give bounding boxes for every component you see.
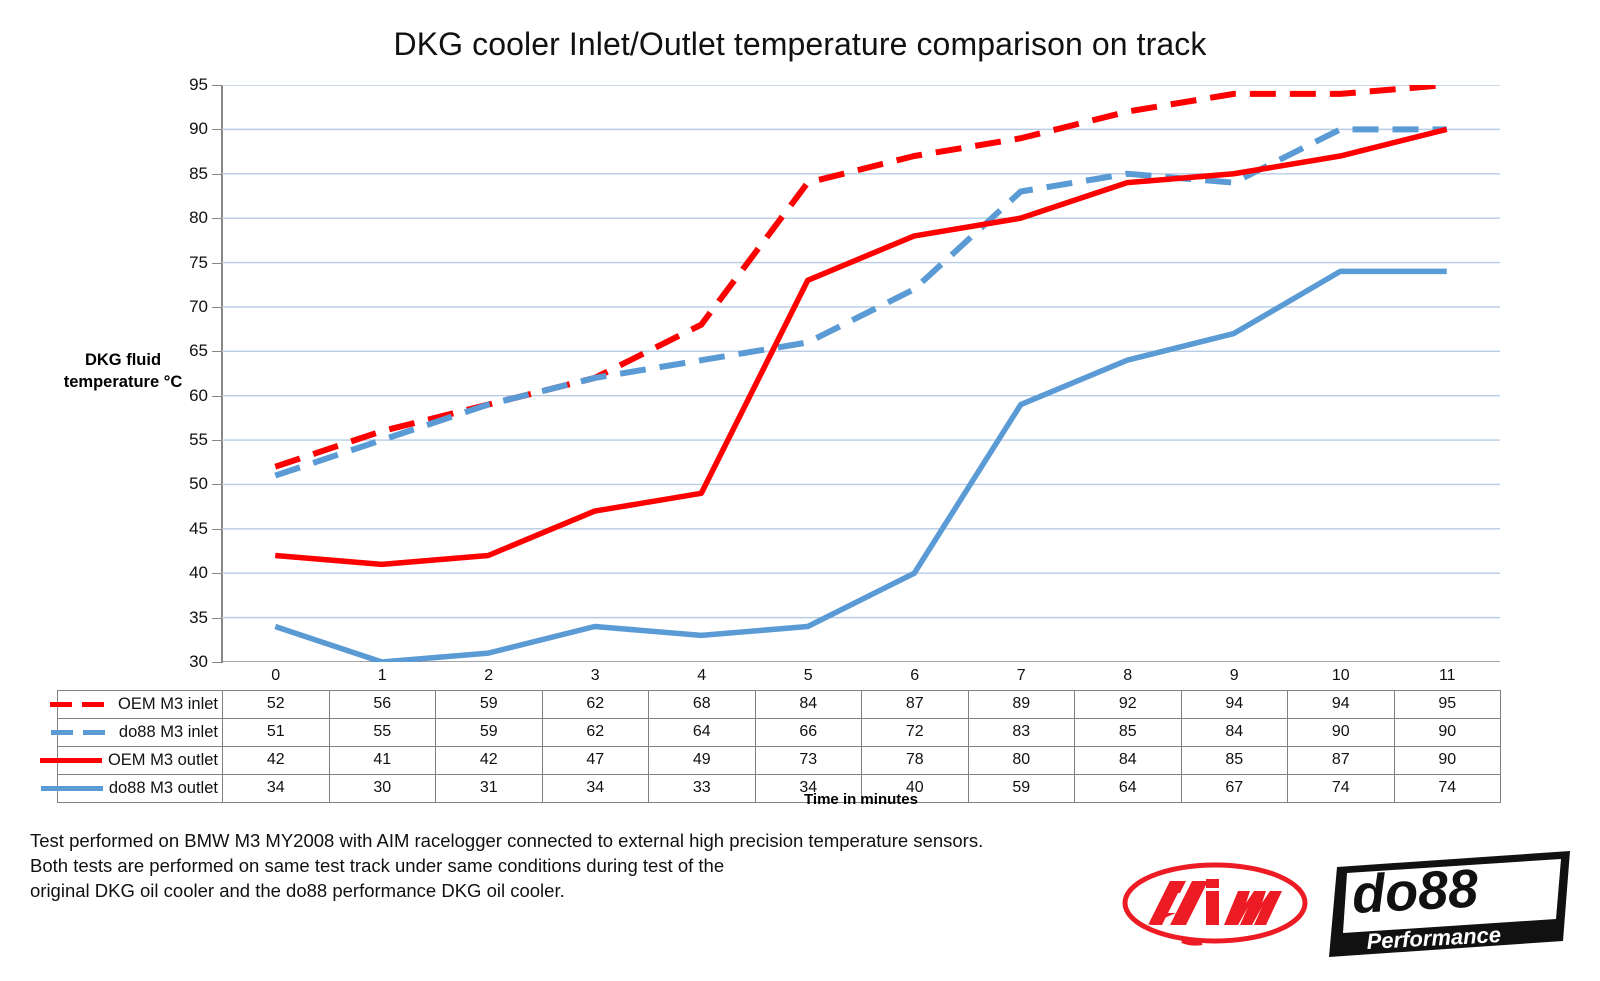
y-tick-label: 50 bbox=[150, 474, 208, 494]
y-tick-mark bbox=[212, 307, 222, 308]
table-cell-value: 84 bbox=[1181, 718, 1288, 746]
table-cell-value: 66 bbox=[755, 718, 862, 746]
legend-swatch-icon bbox=[41, 786, 103, 791]
table-cell-value: 42 bbox=[436, 746, 543, 774]
y-tick-mark bbox=[212, 174, 222, 175]
y-tick-mark bbox=[212, 218, 222, 219]
series-line-do88-m3-inlet bbox=[275, 129, 1447, 475]
y-tick-label: 55 bbox=[150, 430, 208, 450]
table-cell-value: 89 bbox=[968, 690, 1075, 718]
table-cell-value: 83 bbox=[968, 718, 1075, 746]
chart-title: DKG cooler Inlet/Outlet temperature comp… bbox=[0, 26, 1600, 63]
footer-line: original DKG oil cooler and the do88 per… bbox=[30, 878, 983, 903]
table-row: do88 M3 inlet515559626466728385849090 bbox=[58, 718, 1501, 746]
footer-line: Test performed on BMW M3 MY2008 with AIM… bbox=[30, 828, 983, 853]
footer-note: Test performed on BMW M3 MY2008 with AIM… bbox=[30, 828, 983, 903]
table-corner-cell bbox=[58, 662, 223, 690]
table-cell-value: 94 bbox=[1181, 690, 1288, 718]
table-cell-value: 85 bbox=[1075, 718, 1182, 746]
y-tick-mark bbox=[212, 484, 222, 485]
y-tick-label: 65 bbox=[150, 341, 208, 361]
table-cell-value: 52 bbox=[223, 690, 330, 718]
logo-group: do88 Performance bbox=[1120, 845, 1580, 965]
y-tick-label: 95 bbox=[150, 75, 208, 95]
table-cell-value: 90 bbox=[1394, 718, 1501, 746]
legend-swatch-icon bbox=[50, 702, 112, 707]
table-cell-value: 87 bbox=[862, 690, 969, 718]
table-cell-value: 64 bbox=[649, 718, 756, 746]
table-cell-value: 59 bbox=[436, 690, 543, 718]
line-chart-svg bbox=[222, 85, 1500, 662]
category-label: 0 bbox=[223, 662, 330, 690]
category-label: 5 bbox=[755, 662, 862, 690]
x-axis-title: Time in minutes bbox=[222, 791, 1500, 808]
category-label: 6 bbox=[862, 662, 969, 690]
table-cell-value: 90 bbox=[1394, 746, 1501, 774]
legend-entry[interactable]: do88 M3 outlet bbox=[58, 774, 223, 802]
category-label: 4 bbox=[649, 662, 756, 690]
y-tick-label: 80 bbox=[150, 208, 208, 228]
y-tick-mark bbox=[212, 396, 222, 397]
table-cell-value: 62 bbox=[542, 718, 649, 746]
legend-label: do88 M3 outlet bbox=[109, 779, 218, 798]
category-label: 11 bbox=[1394, 662, 1501, 690]
y-tick-label: 45 bbox=[150, 519, 208, 539]
series-line-do88-m3-outlet bbox=[275, 271, 1447, 662]
do88-main-text: do88 bbox=[1350, 858, 1479, 925]
table-cell-value: 56 bbox=[329, 690, 436, 718]
category-label: 10 bbox=[1288, 662, 1395, 690]
data-table: 01234567891011OEM M3 inlet52565962688487… bbox=[57, 662, 1501, 803]
table-cell-value: 95 bbox=[1394, 690, 1501, 718]
y-tick-label: 60 bbox=[150, 386, 208, 406]
y-tick-mark bbox=[212, 85, 222, 86]
y-tick-mark bbox=[212, 351, 222, 352]
table-cell-value: 41 bbox=[329, 746, 436, 774]
category-label: 3 bbox=[542, 662, 649, 690]
table-cell-value: 84 bbox=[755, 690, 862, 718]
series-line-oem-m3-outlet bbox=[275, 129, 1447, 564]
table-row: OEM M3 inlet525659626884878992949495 bbox=[58, 690, 1501, 718]
table-cell-value: 85 bbox=[1181, 746, 1288, 774]
table-cell-value: 78 bbox=[862, 746, 969, 774]
legend-swatch-icon bbox=[51, 730, 113, 735]
y-tick-label: 85 bbox=[150, 164, 208, 184]
legend-entry[interactable]: OEM M3 outlet bbox=[58, 746, 223, 774]
y-tick-label: 35 bbox=[150, 608, 208, 628]
table-cell-value: 73 bbox=[755, 746, 862, 774]
table-cell-value: 80 bbox=[968, 746, 1075, 774]
table-cell-value: 55 bbox=[329, 718, 436, 746]
aim-logo bbox=[1120, 853, 1310, 953]
category-label: 7 bbox=[968, 662, 1075, 690]
table-cell-value: 87 bbox=[1288, 746, 1395, 774]
table-cell-value: 94 bbox=[1288, 690, 1395, 718]
table-cell-value: 68 bbox=[649, 690, 756, 718]
y-tick-mark bbox=[212, 129, 222, 130]
y-tick-mark bbox=[212, 529, 222, 530]
legend-label: do88 M3 inlet bbox=[119, 723, 218, 742]
table-cell-value: 72 bbox=[862, 718, 969, 746]
category-label: 2 bbox=[436, 662, 543, 690]
table-row-categories: 01234567891011 bbox=[58, 662, 1501, 690]
y-tick-mark bbox=[212, 263, 222, 264]
y-tick-mark bbox=[212, 440, 222, 441]
category-label: 1 bbox=[329, 662, 436, 690]
table-row: OEM M3 outlet424142474973788084858790 bbox=[58, 746, 1501, 774]
y-axis-ticks: 9590858075706560555045403530 bbox=[150, 85, 208, 662]
legend-entry[interactable]: do88 M3 inlet bbox=[58, 718, 223, 746]
footer-line: Both tests are performed on same test tr… bbox=[30, 853, 983, 878]
table-cell-value: 59 bbox=[436, 718, 543, 746]
category-label: 8 bbox=[1075, 662, 1182, 690]
legend-label: OEM M3 outlet bbox=[108, 751, 218, 770]
y-tick-label: 90 bbox=[150, 119, 208, 139]
table-cell-value: 92 bbox=[1075, 690, 1182, 718]
table-cell-value: 49 bbox=[649, 746, 756, 774]
legend-entry[interactable]: OEM M3 inlet bbox=[58, 690, 223, 718]
y-tick-mark bbox=[212, 662, 222, 663]
y-tick-label: 70 bbox=[150, 297, 208, 317]
y-tick-mark bbox=[212, 618, 222, 619]
table-cell-value: 62 bbox=[542, 690, 649, 718]
table-cell-value: 51 bbox=[223, 718, 330, 746]
plot-area bbox=[222, 85, 1500, 662]
legend-swatch-icon bbox=[40, 758, 102, 763]
table-cell-value: 47 bbox=[542, 746, 649, 774]
table-cell-value: 90 bbox=[1288, 718, 1395, 746]
series-line-oem-m3-inlet bbox=[275, 85, 1447, 467]
y-tick-label: 40 bbox=[150, 563, 208, 583]
do88-logo: do88 Performance bbox=[1325, 845, 1575, 963]
y-tick-label: 75 bbox=[150, 253, 208, 273]
table-cell-value: 42 bbox=[223, 746, 330, 774]
category-label: 9 bbox=[1181, 662, 1288, 690]
chart-page: DKG cooler Inlet/Outlet temperature comp… bbox=[0, 0, 1600, 981]
table-cell-value: 84 bbox=[1075, 746, 1182, 774]
y-tick-mark bbox=[212, 573, 222, 574]
legend-label: OEM M3 inlet bbox=[118, 695, 218, 714]
